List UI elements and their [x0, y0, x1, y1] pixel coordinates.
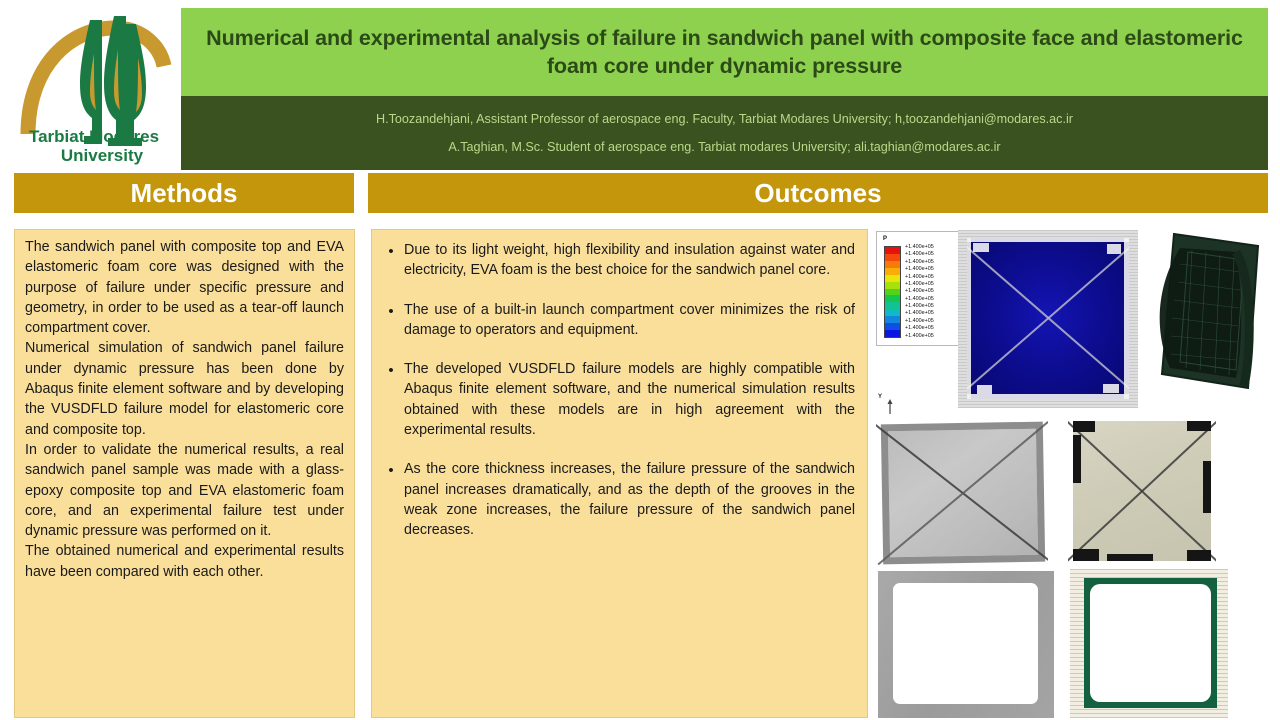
- outcomes-bullet-list: • Due to its light weight, high flexibil…: [372, 230, 867, 541]
- bullet-icon: •: [378, 240, 404, 281]
- author-line-1: H.Toozandehjani, Assistant Professor of …: [376, 112, 1073, 126]
- colorbar-swatch: [885, 323, 900, 330]
- list-item-label: The developed VUSDFLD failure models are…: [404, 359, 855, 440]
- photo-cracked-composite-panel: [1068, 416, 1216, 566]
- section-title-methods: Methods: [131, 180, 238, 206]
- list-item-label: Due to its light weight, high flexibilit…: [404, 240, 855, 281]
- list-item: • The developed VUSDFLD failure models a…: [378, 359, 855, 440]
- colorbar-swatch: [885, 330, 900, 337]
- edge-fracture: [1107, 244, 1121, 254]
- torn-opening: [1090, 584, 1211, 702]
- section-title-outcomes: Outcomes: [754, 180, 881, 206]
- colorbar-swatch: [885, 316, 900, 323]
- author-line-2: A.Taghian, M.Sc. Student of aerospace en…: [448, 140, 1000, 154]
- list-item-label: As the core thickness increases, the fai…: [404, 459, 855, 540]
- section-header-outcomes: Outcomes: [368, 173, 1268, 213]
- frame-surface: [1070, 569, 1228, 718]
- edge-fracture: [1073, 549, 1099, 561]
- page-title: Numerical and experimental analysis of f…: [181, 24, 1268, 81]
- colorbar-swatch: [885, 261, 900, 268]
- fea-contour-blue-plate: [958, 230, 1138, 408]
- colorbar-swatch: [885, 247, 900, 254]
- university-logo: Tarbiat Modares University: [14, 6, 174, 168]
- poster-title-bar: Numerical and experimental analysis of f…: [181, 8, 1268, 96]
- axis-label-y: Y: [878, 394, 882, 400]
- colorbar-swatch: [885, 275, 900, 282]
- fea-3d-deformed-panel: [1140, 228, 1280, 410]
- axis-triad-marker: Y: [878, 394, 904, 416]
- edge-fracture: [973, 243, 989, 252]
- authors-bar: H.Toozandehjani, Assistant Professor of …: [181, 96, 1268, 170]
- colorbar-swatch: [885, 302, 900, 309]
- contour-legend-title: P: [883, 236, 887, 242]
- colorbar-swatch: [885, 309, 900, 316]
- edge-fracture: [1124, 238, 1129, 399]
- list-item: • The use of a built-in launch compartme…: [378, 300, 855, 341]
- section-header-methods: Methods: [14, 173, 354, 213]
- contour-colorbar: [884, 246, 901, 338]
- edge-fracture: [1073, 435, 1081, 483]
- colorbar-swatch: [885, 268, 900, 275]
- colorbar-swatch: [885, 295, 900, 302]
- green-core-ring: [1084, 578, 1217, 708]
- methods-paragraph: In order to validate the numerical resul…: [25, 440, 344, 541]
- bullet-icon: •: [378, 359, 404, 440]
- methods-text-body: The sandwich panel with composite top an…: [15, 230, 354, 582]
- edge-fracture: [1203, 461, 1211, 513]
- colorbar-swatch: [885, 254, 900, 261]
- methods-paragraph: The obtained numerical and experimental …: [25, 541, 344, 582]
- logo-line1: Tarbiat Modares: [29, 127, 159, 146]
- list-item: • Due to its light weight, high flexibil…: [378, 240, 855, 281]
- edge-fracture: [977, 385, 992, 394]
- frame-surface: [878, 571, 1054, 718]
- bullet-icon: •: [378, 300, 404, 341]
- edge-fracture: [1107, 554, 1153, 561]
- methods-paragraph: The sandwich panel with composite top an…: [25, 237, 344, 338]
- logo-artwork: Tarbiat Modares University: [14, 6, 174, 168]
- figure-gallery: P +1.400e+05+1.400e+05+1.400e+05+1.400e+…: [872, 228, 1280, 720]
- crack-line: [877, 421, 1048, 565]
- fea-plate-surface: [967, 238, 1129, 399]
- edge-fracture: [1187, 550, 1211, 561]
- photo-torn-green-frame: [1068, 566, 1230, 720]
- edge-fracture: [1187, 421, 1211, 431]
- edge-fracture: [967, 238, 1129, 242]
- edge-fracture: [967, 394, 1129, 399]
- outcomes-panel: • Due to its light weight, high flexibil…: [371, 229, 868, 718]
- torn-opening: [893, 583, 1038, 704]
- bullet-icon: •: [378, 459, 404, 540]
- fea-3d-mesh: [1140, 228, 1280, 410]
- edge-fracture: [1073, 421, 1095, 432]
- methods-panel: The sandwich panel with composite top an…: [14, 229, 355, 718]
- colorbar-swatch: [885, 282, 900, 289]
- crack-line: [967, 240, 1129, 395]
- edge-fracture: [1103, 384, 1119, 393]
- panel-surface: [881, 422, 1045, 565]
- list-item: • As the core thickness increases, the f…: [378, 459, 855, 540]
- poster-root: Tarbiat Modares University Numerical and…: [0, 0, 1280, 720]
- edge-fracture: [967, 238, 971, 399]
- photo-cracked-gray-panel: [876, 418, 1048, 566]
- colorbar-swatch: [885, 289, 900, 296]
- methods-paragraph: Numerical simulation of sandwich panel f…: [25, 338, 344, 439]
- panel-surface: [1070, 418, 1214, 564]
- list-item-label: The use of a built-in launch compartment…: [404, 300, 855, 341]
- photo-torn-gray-frame: [876, 568, 1056, 720]
- logo-line2: University: [61, 146, 144, 165]
